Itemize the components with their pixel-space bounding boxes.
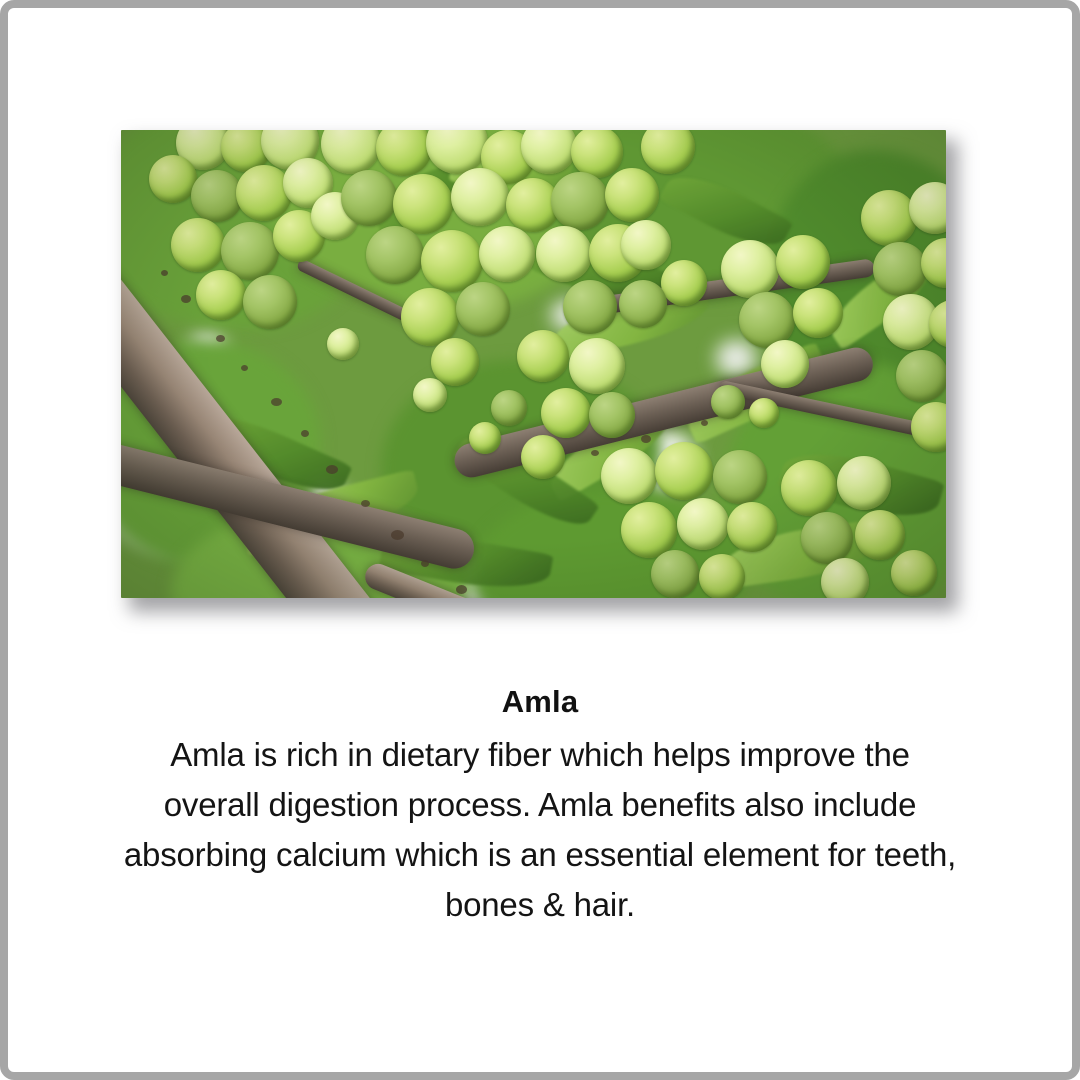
amla-tree-photo — [121, 130, 946, 598]
photo-container — [113, 122, 946, 598]
caption-title: Amla — [16, 680, 1064, 724]
photo-vignette — [121, 130, 946, 598]
info-card: Amla Amla is rich in dietary fiber which… — [0, 0, 1080, 1080]
caption-block: Amla Amla is rich in dietary fiber which… — [16, 680, 1064, 930]
caption-body-text: Amla is rich in dietary fiber which help… — [16, 730, 1064, 930]
